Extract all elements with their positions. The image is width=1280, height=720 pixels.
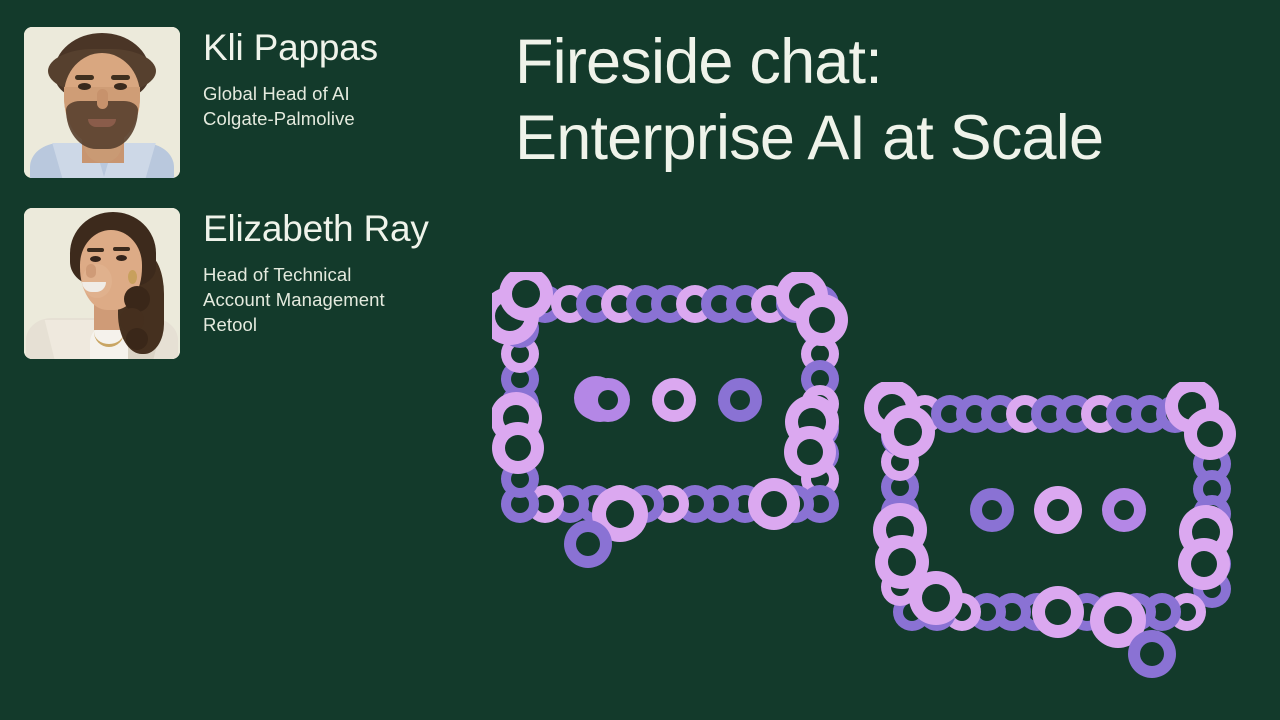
slide-canvas: Kli Pappas Global Head of AI Colgate-Pal… bbox=[0, 0, 1280, 720]
avatar-elizabeth-ray bbox=[24, 208, 180, 359]
title-line-2: Enterprise AI at Scale bbox=[515, 100, 1245, 176]
speech-bubble-left-icon bbox=[492, 272, 864, 572]
speech-bubble-right-icon bbox=[862, 382, 1244, 682]
title-line-1: Fireside chat: bbox=[515, 24, 1245, 100]
speaker-meta: Kli Pappas Global Head of AI Colgate-Pal… bbox=[203, 27, 378, 131]
speaker-role-line-2: Account Management bbox=[203, 287, 429, 312]
speaker-org: Colgate-Palmolive bbox=[203, 106, 378, 131]
speaker-org: Retool bbox=[203, 312, 429, 337]
slide-title: Fireside chat: Enterprise AI at Scale bbox=[515, 24, 1245, 176]
speaker-card-elizabeth-ray: Elizabeth Ray Head of Technical Account … bbox=[24, 208, 429, 359]
speaker-role-line-1: Head of Technical bbox=[203, 262, 429, 287]
speaker-meta: Elizabeth Ray Head of Technical Account … bbox=[203, 208, 429, 337]
speaker-role: Global Head of AI bbox=[203, 81, 378, 106]
avatar-kli-pappas bbox=[24, 27, 180, 178]
speaker-name: Kli Pappas bbox=[203, 29, 378, 66]
speaker-card-kli-pappas: Kli Pappas Global Head of AI Colgate-Pal… bbox=[24, 27, 378, 178]
speaker-name: Elizabeth Ray bbox=[203, 210, 429, 247]
